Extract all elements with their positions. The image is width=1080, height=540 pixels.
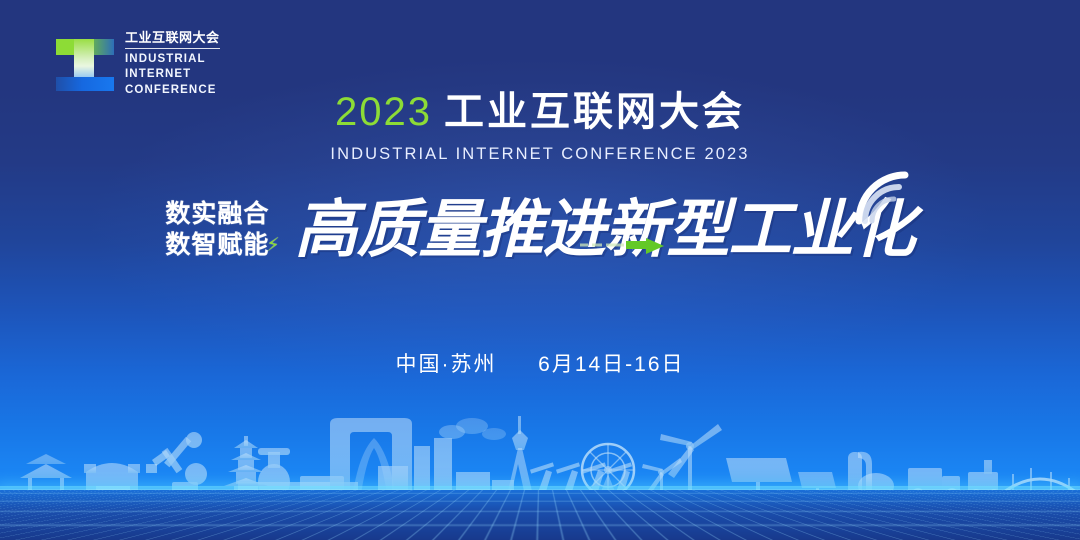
logo-cn-name: 工业互联网大会	[125, 30, 220, 49]
logo-wordmark: 工业互联网大会 INDUSTRIAL INTERNET CONFERENCE	[125, 30, 220, 98]
conference-banner: 工业互联网大会 INDUSTRIAL INTERNET CONFERENCE 2…	[0, 0, 1080, 540]
logo-en-line2: INTERNET	[125, 67, 220, 82]
conference-logo: 工业互联网大会 INDUSTRIAL INTERNET CONFERENCE	[54, 30, 220, 98]
title-en-subtitle: INDUSTRIAL INTERNET CONFERENCE 2023	[0, 145, 1080, 164]
event-info: 中国·苏州 6月14日-16日	[0, 348, 1080, 378]
wifi-signal-icon	[851, 169, 921, 225]
logo-en-line1: INDUSTRIAL	[125, 52, 220, 67]
robot-arm-icon	[146, 432, 207, 494]
lightning-bolt-icon: ⚡	[266, 235, 280, 256]
perspective-grid	[0, 490, 1080, 540]
green-arrow-icon	[580, 238, 666, 254]
slogan-left-line2: 数智赋能⚡	[165, 232, 280, 259]
event-location: 中国·苏州	[395, 353, 496, 376]
main-title: 2023 工业互联网大会	[335, 92, 745, 132]
slogan-main: 高质量推进新型工业化	[295, 199, 915, 262]
slogan-block: 数实融合 数智赋能⚡ 高质量推进新型工业化	[0, 182, 1080, 278]
title-cn: 工业互联网大会	[444, 92, 745, 132]
event-dates: 6月14日-16日	[538, 353, 684, 376]
title-block: 2023 工业互联网大会 INDUSTRIAL INTERNET CONFERE…	[0, 92, 1080, 164]
city-industry-skyline	[0, 390, 1080, 540]
slogan-secondary: 数实融合 数智赋能⚡	[165, 201, 280, 259]
slogan-left-line1: 数实融合	[165, 201, 280, 228]
logo-mark-icon	[54, 33, 116, 95]
title-year: 2023	[335, 92, 432, 132]
